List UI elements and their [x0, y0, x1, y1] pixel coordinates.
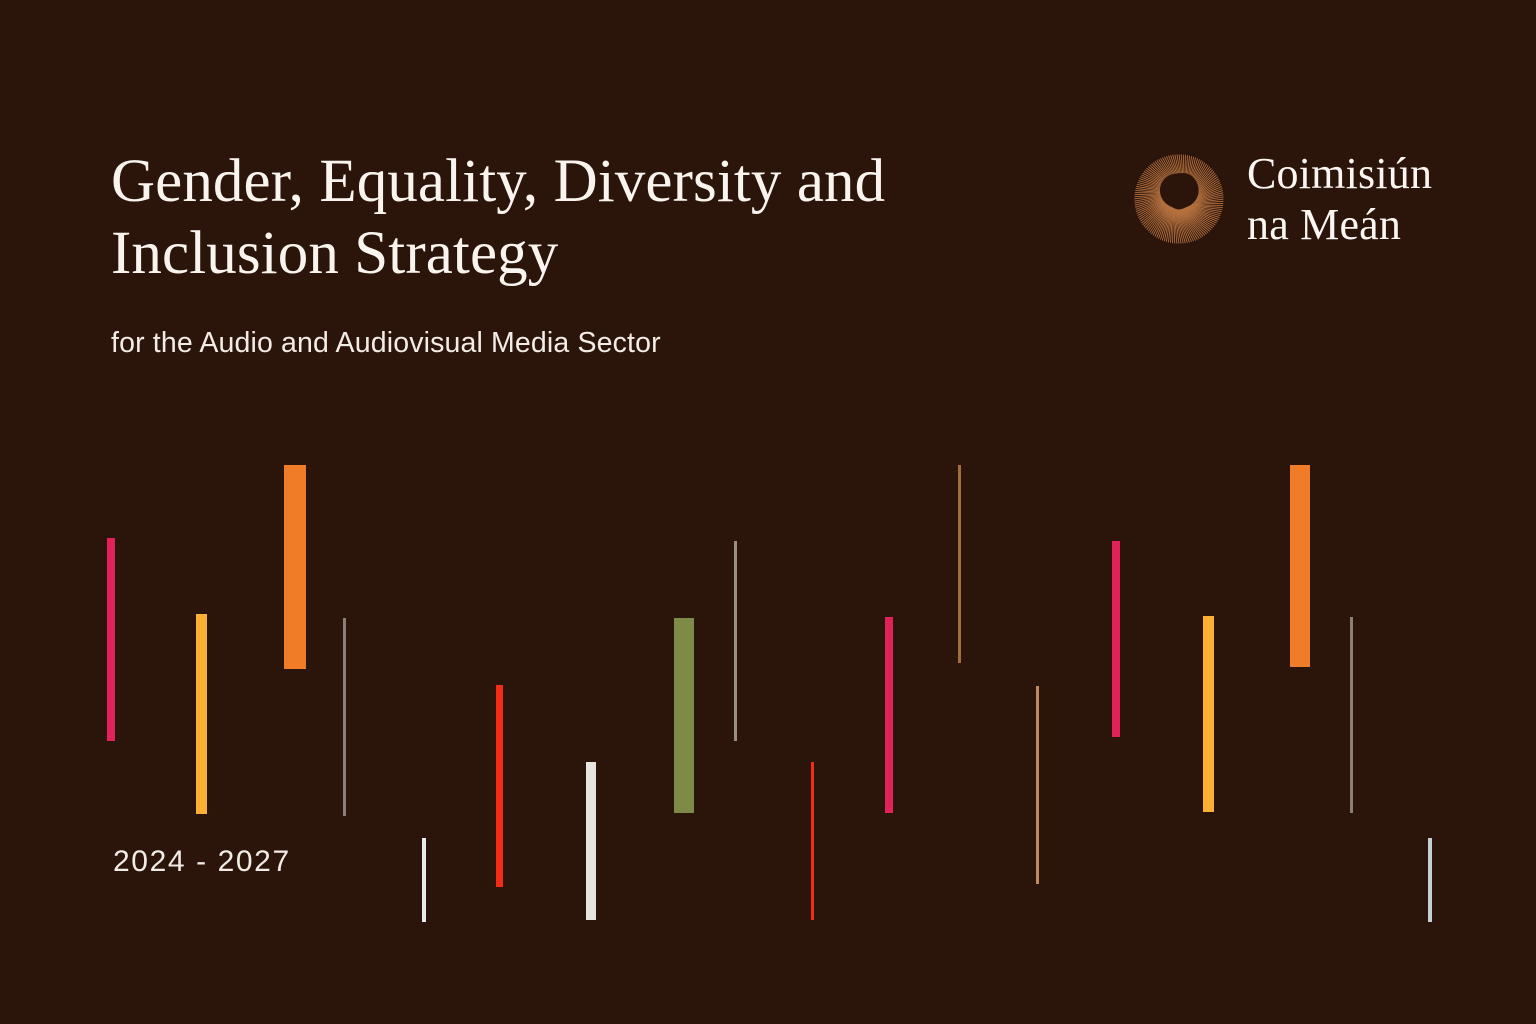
bar-red-1	[496, 685, 503, 887]
line-gray-2	[734, 541, 737, 741]
organisation-wordmark: Coimisiún na Meán	[1247, 148, 1432, 250]
date-range: 2024 - 2027	[113, 845, 291, 879]
bar-offwhite-1	[586, 762, 596, 920]
bar-crimson-1	[107, 538, 115, 741]
bar-orange-1	[284, 465, 306, 669]
page-title: Gender, Equality, Diversity and Inclusio…	[111, 146, 891, 290]
bar-amber-1	[196, 614, 207, 814]
organisation-logo: Coimisiún na Meán	[1133, 148, 1432, 250]
document-cover: Gender, Equality, Diversity and Inclusio…	[0, 0, 1536, 1024]
line-ice-1	[422, 838, 426, 922]
line-gray-3	[1350, 617, 1353, 813]
line-ice-2	[1428, 838, 1432, 922]
bar-crimson-2	[885, 617, 893, 813]
coimisiun-na-mean-circular-mark-icon	[1133, 153, 1225, 245]
line-gray-1	[343, 618, 346, 816]
bar-crimson-3	[1112, 541, 1120, 737]
line-copper-1	[958, 465, 961, 663]
bar-orange-2	[1290, 465, 1310, 667]
page-subtitle: for the Audio and Audiovisual Media Sect…	[111, 326, 891, 362]
line-red-2	[811, 762, 814, 920]
title-block: Gender, Equality, Diversity and Inclusio…	[111, 146, 891, 362]
line-copper-2	[1036, 686, 1039, 884]
bar-olive-1	[674, 618, 694, 813]
bar-amber-2	[1203, 616, 1214, 812]
